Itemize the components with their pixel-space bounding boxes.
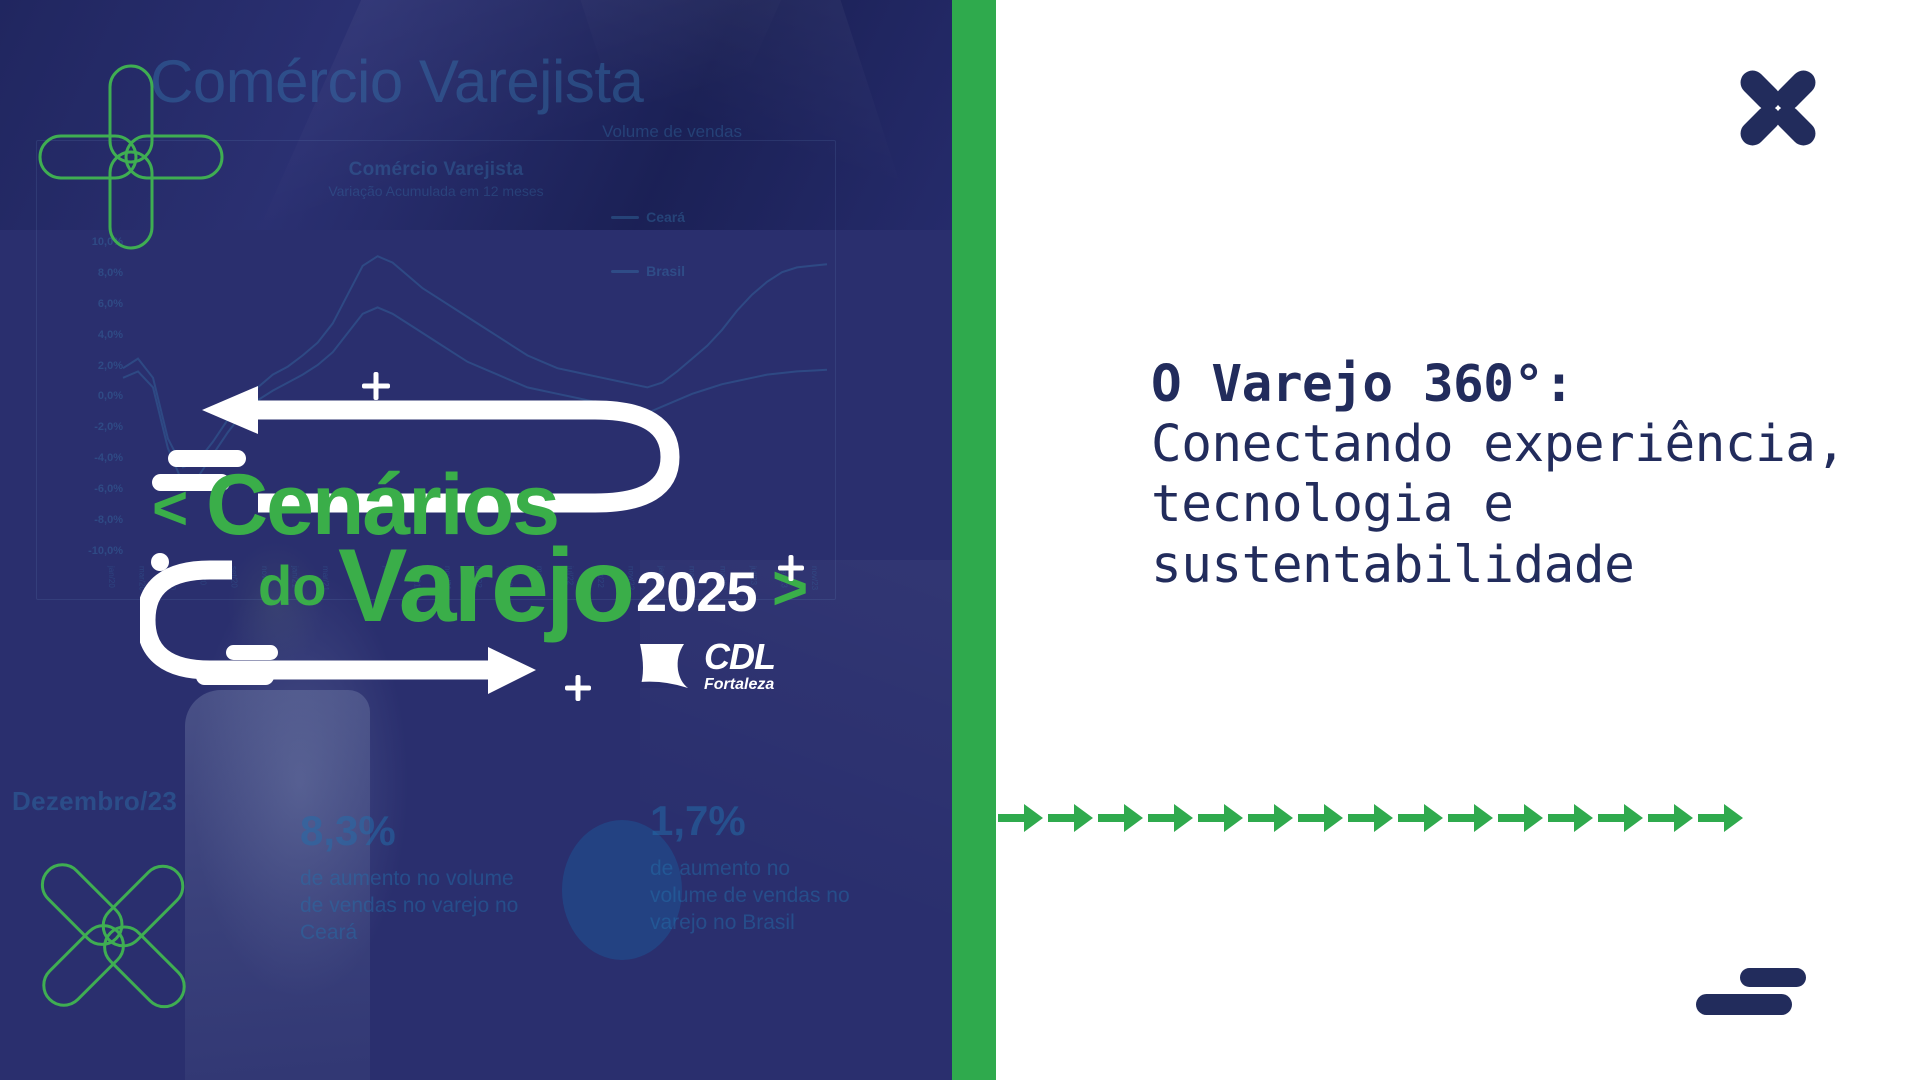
arrow-right-icon — [1648, 801, 1694, 835]
arrow-right-icon — [1448, 801, 1494, 835]
arrow-right-icon — [1148, 801, 1194, 835]
arrow-right-icon — [1398, 801, 1444, 835]
x-outline-icon — [24, 848, 204, 1023]
plus-outline-icon — [36, 62, 226, 252]
arrow-right-icon — [1048, 801, 1094, 835]
event-logo-lockup: < Cenários do Varejo 2025 > CDL Fortale — [140, 370, 830, 710]
green-divider — [952, 0, 996, 1080]
stat-brasil: 1,7% de aumento no volume de vendas no v… — [650, 800, 850, 937]
arrow-right-icon — [1348, 801, 1394, 835]
stat-description: de aumento no volume de vendas no varejo… — [650, 856, 850, 937]
arrow-right-icon — [1698, 801, 1744, 835]
stat-value: 1,7% — [650, 800, 850, 842]
arrow-right-icon — [998, 801, 1044, 835]
arrow-right-icon — [1498, 801, 1544, 835]
stat-description: de aumento no volume de vendas no varejo… — [300, 866, 530, 947]
arrow-right-icon — [1598, 801, 1644, 835]
arrow-strip — [996, 798, 1920, 838]
logo-arrow-loop — [140, 370, 830, 710]
arrow-right-icon — [1198, 801, 1244, 835]
x-tick: jan/20 — [107, 566, 116, 591]
stat-value: 8,3% — [300, 810, 530, 852]
left-header-title: Comércio Varejista — [150, 52, 770, 112]
right-panel: O Varejo 360°: Conectando experiência, t… — [996, 0, 1920, 1080]
arrow-right-icon — [1248, 801, 1294, 835]
stat-ceara: 8,3% de aumento no volume de vendas no v… — [300, 810, 530, 947]
arrow-right-icon — [1298, 801, 1344, 835]
arrow-right-icon — [1548, 801, 1594, 835]
dashes-icon — [1696, 968, 1814, 1024]
left-header: Comércio Varejista Volume de vendas — [150, 52, 770, 142]
left-header-subtitle: Volume de vendas — [150, 122, 770, 142]
left-panel: Comércio Varejista Variação Acumulada em… — [0, 0, 952, 1080]
x-icon — [1728, 58, 1828, 158]
page-title: O Varejo 360°: Conectando experiência, t… — [1151, 355, 1891, 596]
headline-lead: O Varejo 360°: — [1151, 355, 1891, 415]
date-label: Dezembro/23 — [12, 786, 177, 817]
slide-root: Comércio Varejista Variação Acumulada em… — [0, 0, 1920, 1080]
arrow-right-icon — [1098, 801, 1144, 835]
headline-rest: Conectando experiência, tecnologia e sus… — [1151, 415, 1891, 596]
